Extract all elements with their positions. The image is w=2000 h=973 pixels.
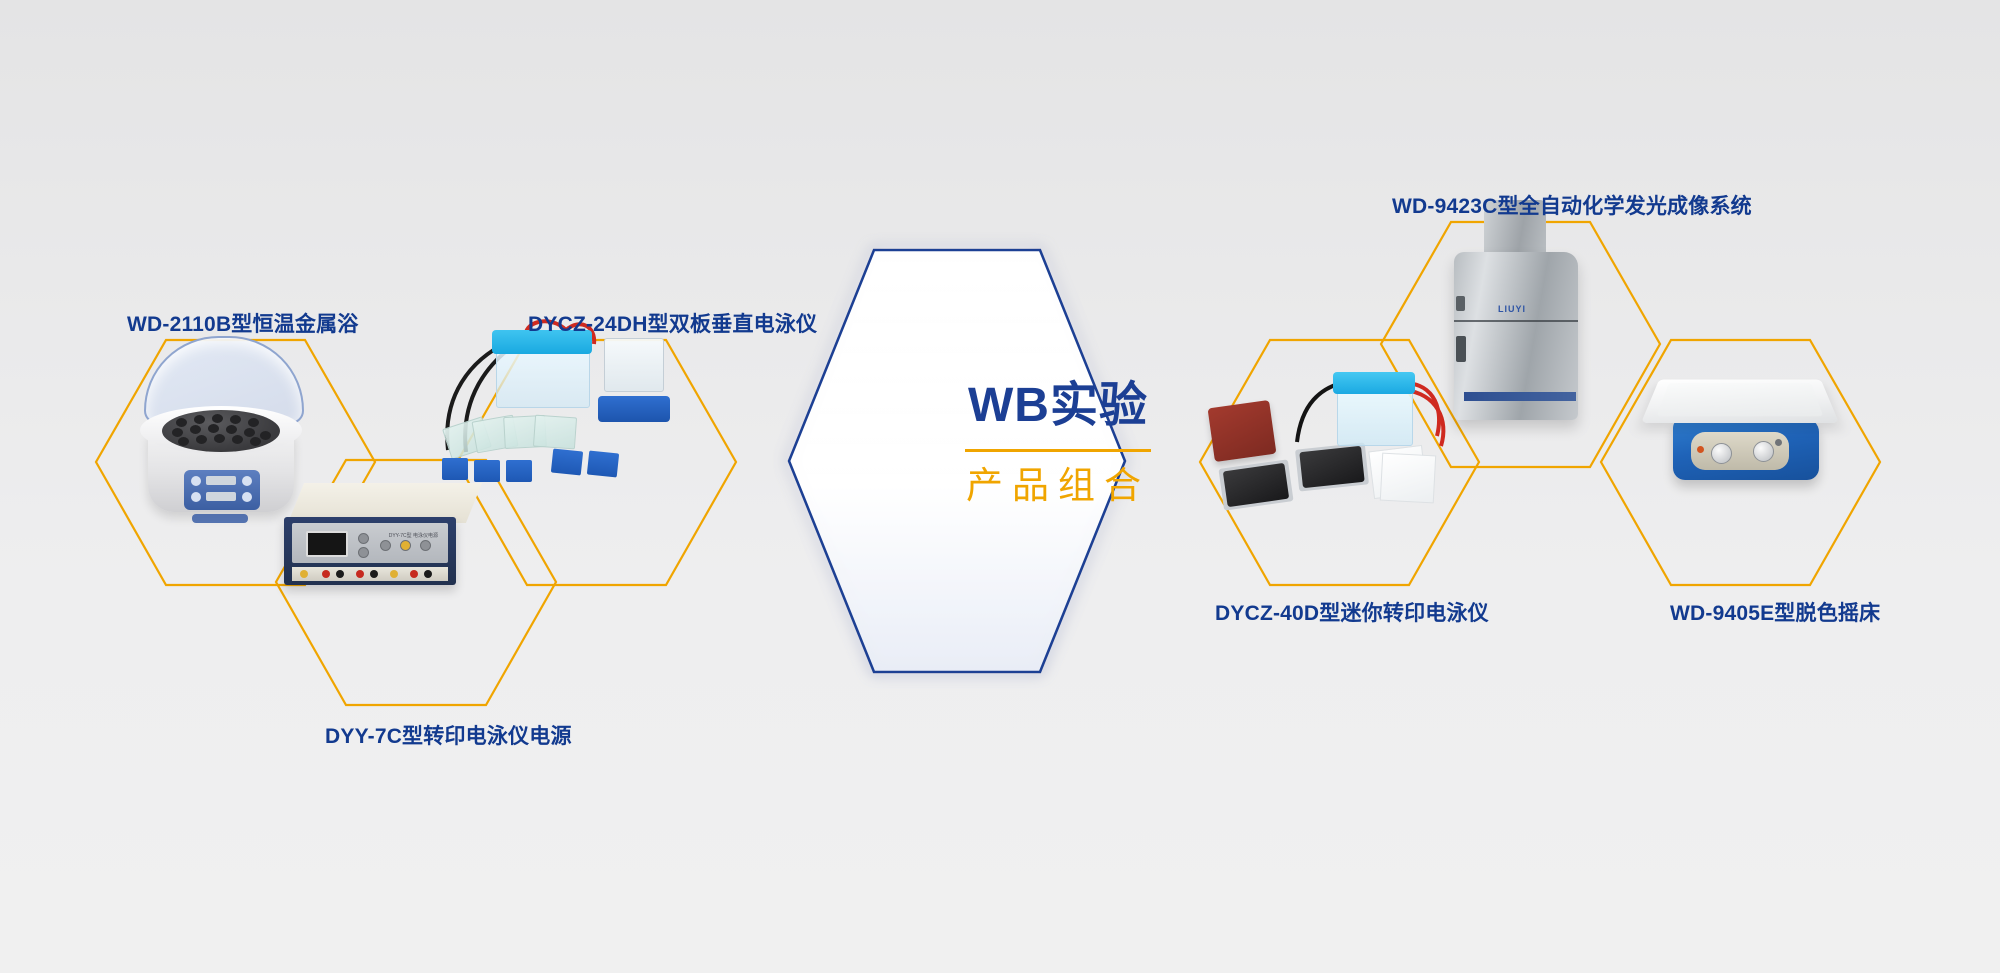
shaker-control-panel[interactable] <box>1691 432 1789 470</box>
bath-control-panel[interactable] <box>184 470 260 510</box>
power-supply-jack-strip <box>292 567 448 581</box>
transfer-cassette <box>1208 400 1277 462</box>
imaging-door-handle <box>1456 336 1466 362</box>
gel-caster <box>598 396 670 422</box>
imaging-brand-logo: LIUYI <box>1498 304 1526 314</box>
imaging-door-seam <box>1454 320 1578 322</box>
label-dycz-40d: DYCZ-40D型迷你转印电泳仪 <box>1215 597 1489 627</box>
power-supply-display <box>306 531 348 557</box>
power-supply-front: DYY-7C型 电泳仪电源 <box>284 517 456 585</box>
label-wd-9423c: WD-9423C型全自动化学发光成像系统 <box>1392 190 1752 220</box>
label-wd-2110b: WD-2110B型恒温金属浴 <box>127 308 359 338</box>
power-supply-panel: DYY-7C型 电泳仪电源 <box>292 523 448 563</box>
power-supply-panel-text: DYY-7C型 电泳仪电源 <box>389 532 438 539</box>
product-image-wd-9423c: LIUYI <box>1440 196 1600 446</box>
product-image-dycz-40d <box>1205 350 1465 550</box>
label-dycz-24dh: DYCZ-24DH型双板垂直电泳仪 <box>528 308 817 338</box>
imaging-vent <box>1456 296 1465 311</box>
center-divider <box>965 449 1151 452</box>
imaging-accent-stripe <box>1464 392 1576 401</box>
product-image-wd-9405e <box>1645 358 1845 548</box>
bath-brand-logo <box>192 514 248 523</box>
diagram-stage: WB实验 产品组合 <box>0 0 2000 973</box>
shaker-tray <box>1641 379 1839 423</box>
transfer-tank-lid <box>1333 372 1415 394</box>
bath-well-block <box>162 410 280 452</box>
label-dyy-7c: DYY-7C型转印电泳仪电源 <box>325 720 572 750</box>
label-wd-9405e: WD-9405E型脱色摇床 <box>1670 597 1880 627</box>
shaker-tray-inner <box>1657 383 1824 416</box>
glass-plate-holder <box>604 338 664 392</box>
